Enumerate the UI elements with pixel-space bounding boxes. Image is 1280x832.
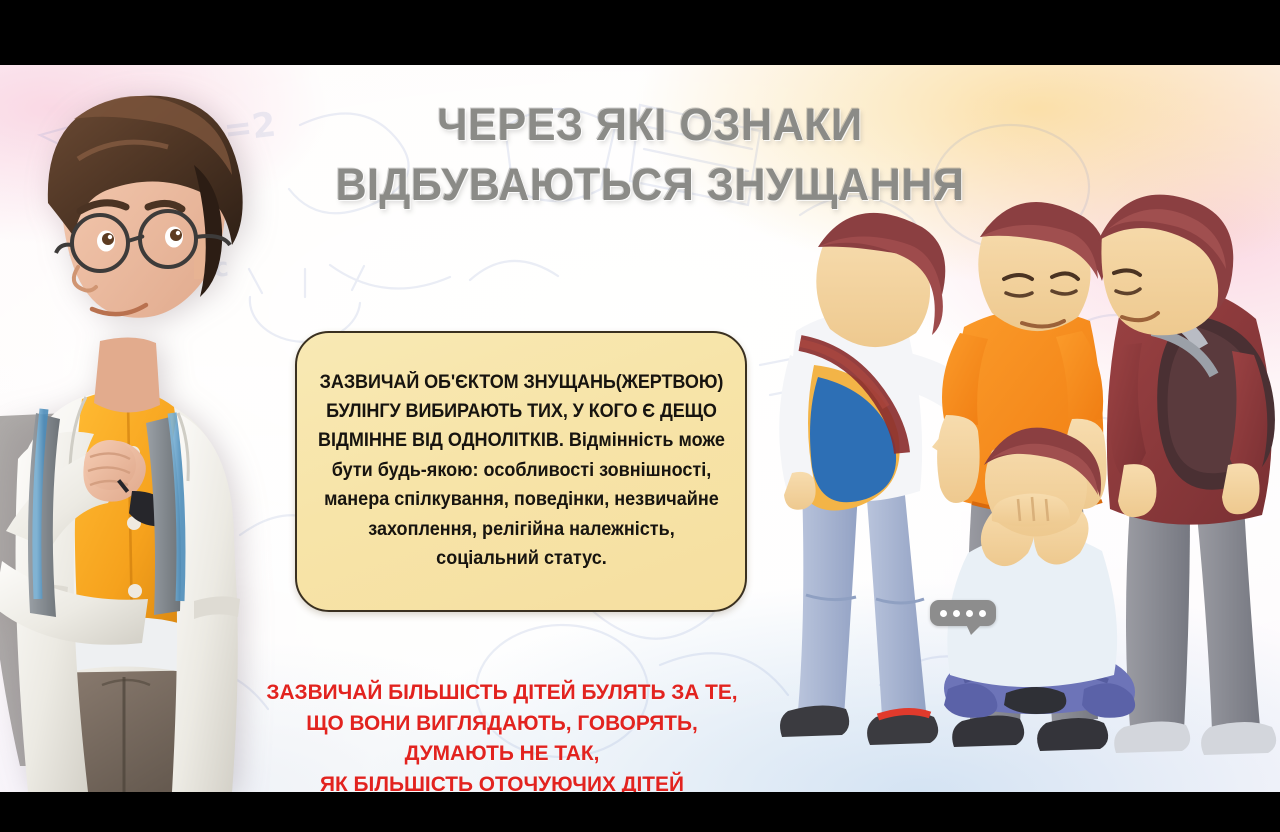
info-card-line: ВІДМІННЕ ВІД ОДНОЛІТКІВ. Відмінність мож… <box>318 426 725 455</box>
callout-text: ЗАЗВИЧАЙ БІЛЬШІСТЬ ДІТЕЙ БУЛЯТЬ ЗА ТЕ, Щ… <box>230 677 773 792</box>
page-title-line-1: ЧЕРЕЗ ЯКІ ОЗНАКИ <box>314 95 986 155</box>
info-card-text: ЗАЗВИЧАЙ ОБ'ЄКТОМ ЗНУЩАНЬ(ЖЕРТВОЮ) БУЛІН… <box>299 358 744 586</box>
info-card: ЗАЗВИЧАЙ ОБ'ЄКТОМ ЗНУЩАНЬ(ЖЕРТВОЮ) БУЛІН… <box>295 331 747 612</box>
info-card-line: соціальний статус. <box>318 544 725 573</box>
screen-root: 1+1=2 abc <box>0 0 1280 832</box>
typing-dots-icon <box>930 600 996 626</box>
callout-line: ЩО ВОНИ ВИГЛЯДАЮТЬ, ГОВОРЯТЬ, <box>230 708 773 739</box>
page-title-line-2: ВІДБУВАЮТЬСЯ ЗНУЩАННЯ <box>314 155 986 215</box>
info-card-line: БУЛІНГУ ВИБИРАЮТЬ ТИХ, У КОГО Є ДЕЩО <box>318 397 725 426</box>
bubble-dot <box>979 610 986 617</box>
callout-line: ЯК БІЛЬШІСТЬ ОТОЧУЮЧИХ ДІТЕЙ <box>230 769 773 792</box>
bubble-dot <box>940 610 947 617</box>
bullying-scene-icon <box>766 165 1280 792</box>
info-card-line: захоплення, релігійна належність, <box>318 515 725 544</box>
callout-line: ЗАЗВИЧАЙ БІЛЬШІСТЬ ДІТЕЙ БУЛЯТЬ ЗА ТЕ, <box>230 677 773 708</box>
bubble-dot <box>953 610 960 617</box>
info-card-line: бути будь-якою: особливості зовнішності, <box>318 456 725 485</box>
slide-canvas: 1+1=2 abc <box>0 65 1280 792</box>
page-title: ЧЕРЕЗ ЯКІ ОЗНАКИ ВІДБУВАЮТЬСЯ ЗНУЩАННЯ <box>300 95 1000 215</box>
bubble-dot <box>966 610 973 617</box>
info-card-line: манера спілкування, поведінки, незвичайн… <box>318 485 725 514</box>
callout-line: ДУМАЮТЬ НЕ ТАК, <box>230 738 773 769</box>
letterbox-top <box>0 0 1280 65</box>
letterbox-bottom <box>0 792 1280 832</box>
info-card-line: ЗАЗВИЧАЙ ОБ'ЄКТОМ ЗНУЩАНЬ(ЖЕРТВОЮ) <box>318 368 725 397</box>
